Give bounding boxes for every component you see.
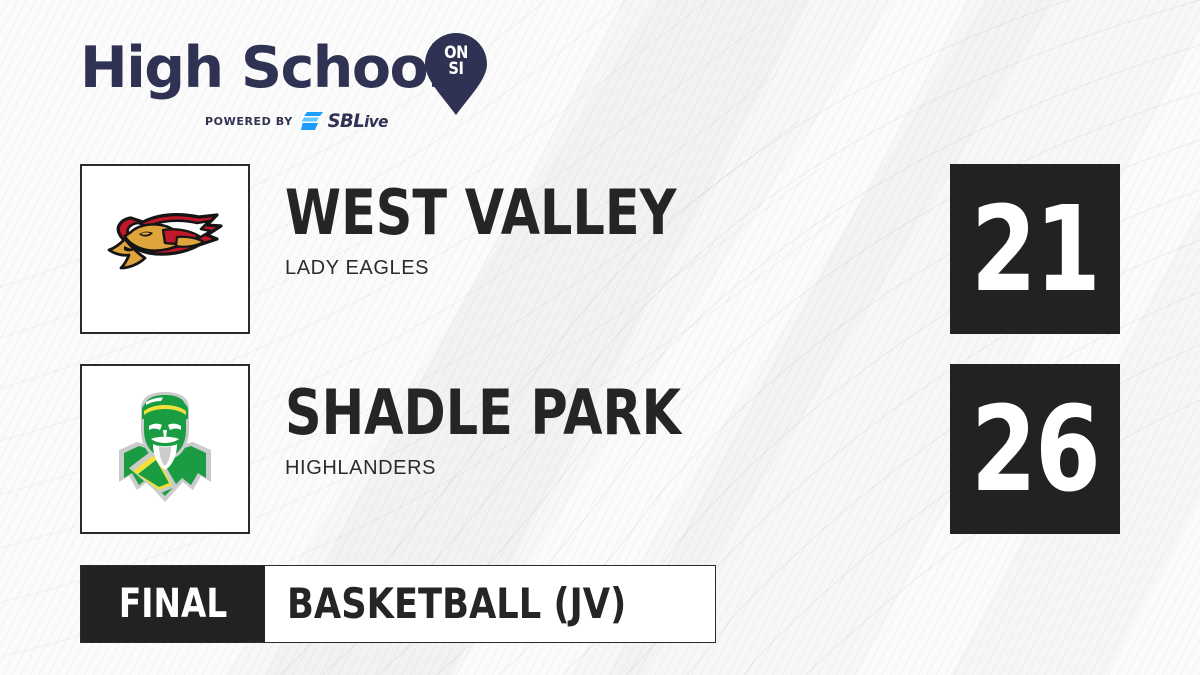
score-box: 26 bbox=[950, 364, 1120, 534]
sport-label-panel: BASKETBALL (JV) bbox=[265, 566, 715, 642]
game-state-label: FINAL bbox=[119, 584, 227, 624]
team-name: SHADLE PARK bbox=[285, 382, 859, 444]
status-bar: FINAL BASKETBALL (JV) bbox=[80, 565, 716, 643]
brand-lockup: High School ON SI POWERED BY SBLive bbox=[80, 32, 510, 132]
powered-by-lockup: POWERED BY SBLive bbox=[205, 110, 389, 132]
sblive-word-main: SBL bbox=[327, 110, 364, 132]
sblive-s-mark-icon bbox=[301, 112, 323, 130]
team-logo-tile-west-valley bbox=[80, 164, 250, 334]
team-text-block: WEST VALLEY LADY EAGLES bbox=[285, 182, 985, 279]
brand-wordmark: High School bbox=[80, 38, 445, 98]
score-box: 21 bbox=[950, 164, 1120, 334]
team-text-block: SHADLE PARK HIGHLANDERS bbox=[285, 382, 985, 479]
sport-label: BASKETBALL (JV) bbox=[287, 583, 626, 625]
eagle-head-logo-icon bbox=[103, 206, 227, 292]
pin-label: ON SI bbox=[428, 45, 483, 77]
team-logo-tile-shadle-park bbox=[80, 364, 250, 534]
score-value: 21 bbox=[971, 190, 1099, 308]
sblive-word-tail: ive bbox=[364, 112, 388, 131]
sblive-wordmark: SBLive bbox=[327, 110, 387, 132]
on-si-pin-icon: ON SI bbox=[424, 32, 488, 116]
pin-label-line2: SI bbox=[428, 61, 483, 77]
highlander-head-logo-icon bbox=[115, 390, 215, 508]
powered-by-label: POWERED BY bbox=[205, 115, 293, 128]
score-graphic-canvas: High School ON SI POWERED BY SBLive bbox=[0, 0, 1200, 675]
team-subtitle: LADY EAGLES bbox=[285, 257, 985, 279]
game-state-badge: FINAL bbox=[81, 566, 265, 642]
sblive-logo: SBLive bbox=[301, 110, 389, 132]
team-subtitle: HIGHLANDERS bbox=[285, 457, 985, 479]
score-value: 26 bbox=[971, 390, 1099, 508]
team-name: WEST VALLEY bbox=[285, 182, 859, 244]
